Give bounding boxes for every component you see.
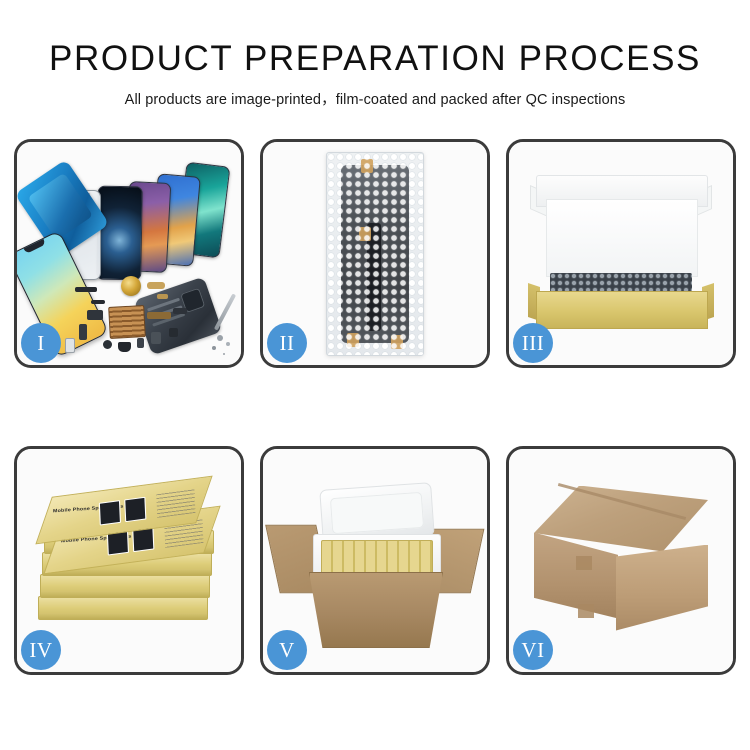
part-antenna-icon bbox=[91, 300, 105, 304]
retail-box-stack: Mobile Phone Spare Parts Mobile Phone Sp… bbox=[34, 476, 224, 646]
bubble-wrap-bag bbox=[326, 152, 424, 356]
part-flex-cable-icon bbox=[147, 312, 171, 319]
box-label-spec-lines bbox=[156, 488, 195, 517]
sealed-shipping-carton bbox=[530, 486, 712, 636]
part-sim-tray-icon bbox=[65, 338, 75, 353]
step-badge: II bbox=[267, 323, 307, 363]
process-step-2: II bbox=[260, 139, 490, 368]
step-badge: I bbox=[21, 323, 61, 363]
part-module-icon bbox=[151, 332, 161, 344]
step-badge: IV bbox=[21, 630, 61, 670]
gold-coil-icon bbox=[121, 276, 141, 296]
process-step-3: III bbox=[506, 139, 736, 368]
tweezers-icon bbox=[214, 293, 236, 330]
copper-chip-grid-icon bbox=[108, 305, 146, 339]
tape-strip-icon bbox=[361, 159, 373, 173]
part-strip-icon bbox=[75, 287, 97, 292]
part-block-icon bbox=[87, 310, 103, 320]
carton-right-face bbox=[616, 545, 708, 631]
tape-strip-icon bbox=[347, 333, 359, 347]
carton-body bbox=[309, 572, 443, 648]
carton-left-face bbox=[534, 533, 618, 619]
product-preparation-infographic: PRODUCT PREPARATION PROCESS All products… bbox=[0, 0, 750, 750]
part-connector-icon bbox=[173, 308, 187, 314]
part-gold-small-icon bbox=[157, 294, 168, 299]
box-label-screen-image bbox=[99, 500, 121, 525]
part-camera-icon bbox=[118, 342, 131, 352]
page-subtitle: All products are image-printed，film-coat… bbox=[0, 88, 750, 109]
box-label-screen-image bbox=[124, 496, 146, 521]
phone-dark-icon bbox=[96, 186, 143, 281]
part-bracket-icon bbox=[79, 324, 87, 340]
header: PRODUCT PREPARATION PROCESS All products… bbox=[0, 0, 750, 109]
open-kraft-box bbox=[528, 175, 714, 333]
part-speaker-icon bbox=[103, 340, 112, 349]
process-step-6: VI bbox=[506, 446, 736, 675]
open-shipping-carton bbox=[275, 480, 475, 650]
box-front-panel bbox=[536, 291, 708, 329]
process-step-5: V bbox=[260, 446, 490, 675]
box-foam-backing bbox=[546, 199, 698, 277]
stacked-box bbox=[38, 596, 208, 620]
part-chip-icon bbox=[169, 328, 178, 337]
part-pin-icon bbox=[137, 338, 144, 348]
step-badge: VI bbox=[513, 630, 553, 670]
tape-strip-icon bbox=[391, 335, 403, 349]
stacked-box bbox=[40, 574, 210, 598]
process-step-1: I bbox=[14, 139, 244, 368]
tape-strip-icon bbox=[359, 227, 371, 241]
yellow-boxes-inside bbox=[321, 540, 433, 576]
step-badge: III bbox=[513, 323, 553, 363]
part-gold-flex-icon bbox=[147, 282, 165, 289]
step-badge: V bbox=[267, 630, 307, 670]
screws-icon bbox=[217, 335, 223, 341]
carton-tab-upper bbox=[576, 556, 592, 570]
process-step-grid: I II bbox=[14, 139, 736, 675]
carton-tab-lower bbox=[578, 604, 594, 618]
process-step-4: Mobile Phone Spare Parts Mobile Phone Sp… bbox=[14, 446, 244, 675]
page-title: PRODUCT PREPARATION PROCESS bbox=[0, 40, 750, 79]
